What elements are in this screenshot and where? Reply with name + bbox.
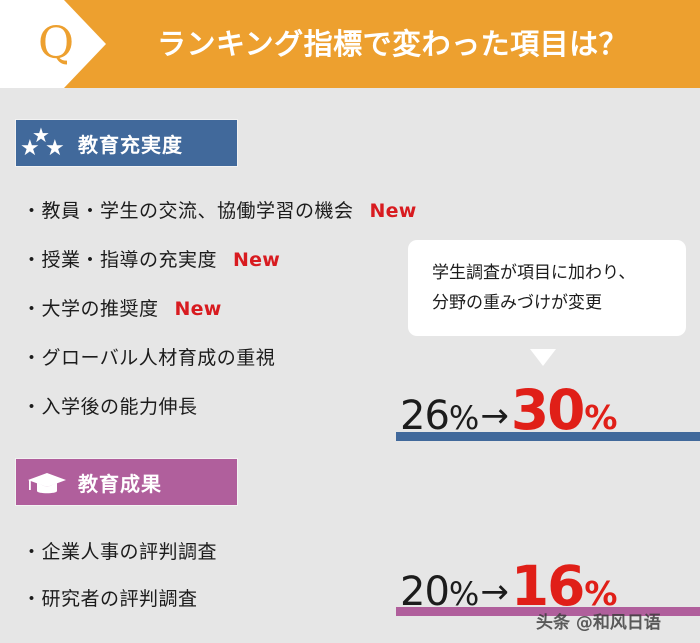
list-item-label: ・企業人事の評判調査 bbox=[22, 537, 217, 564]
section-banner-label: 教育成果 bbox=[78, 468, 162, 497]
graduation-cap-icon bbox=[16, 458, 78, 506]
list-item: ・教員・学生の交流、協働学習の機会 New bbox=[22, 196, 416, 223]
list-item: ・大学の推奨度 New bbox=[22, 294, 221, 321]
question-mark-badge-icon: Q bbox=[26, 14, 86, 74]
stat-underline-bar bbox=[396, 432, 700, 441]
header: Q ランキング指標で変わった項目は？ bbox=[0, 0, 700, 88]
list-item: ・研究者の評判調査 bbox=[22, 584, 214, 611]
list-item-label: ・グローバル人材育成の重視 bbox=[22, 343, 275, 370]
list-item: ・グローバル人材育成の重視 bbox=[22, 343, 291, 370]
graduation-cap-glyph bbox=[27, 472, 67, 496]
list-item: ・企業人事の評判調査 bbox=[22, 537, 233, 564]
list-item-label: ・入学後の能力伸長 bbox=[22, 392, 198, 419]
section-banner-label: 教育充実度 bbox=[78, 129, 183, 158]
new-badge: New bbox=[370, 200, 417, 222]
arrow-right-icon: → bbox=[480, 572, 509, 612]
callout-bubble: 学生調査が項目に加わり、 分野の重みづけが変更 bbox=[408, 240, 686, 336]
section-banner-education-outcome: 教育成果 bbox=[15, 458, 238, 506]
section-banner-education-enrichment: ★ ★ ★ 教育充実度 bbox=[15, 119, 238, 167]
list-item-label: ・研究者の評判調査 bbox=[22, 584, 198, 611]
star-icon: ★ bbox=[45, 138, 65, 160]
list-item: ・授業・指導の充実度 New bbox=[22, 245, 280, 272]
page-title: ランキング指標で変わった項目は？ bbox=[157, 0, 628, 88]
list-item-label: ・授業・指導の充実度 bbox=[22, 245, 217, 272]
callout-line-1: 学生調査が項目に加わり、 bbox=[408, 258, 686, 288]
arrow-right-icon: → bbox=[480, 396, 509, 436]
list-item-label: ・教員・学生の交流、協働学習の機会 bbox=[22, 196, 354, 223]
list-item: ・入学後の能力伸長 bbox=[22, 392, 214, 419]
star-icon: ★ bbox=[20, 138, 40, 160]
infographic-page: Q ランキング指標で変わった項目は？ ★ ★ ★ 教育充実度 ・教員・学生の交流… bbox=[0, 0, 700, 643]
callout-line-2: 分野の重みづけが変更 bbox=[408, 288, 686, 318]
callout-tail-icon bbox=[530, 349, 556, 366]
new-badge: New bbox=[233, 249, 280, 271]
watermark: 头条 @和风日语 bbox=[536, 608, 661, 633]
new-badge: New bbox=[175, 298, 222, 320]
three-stars-icon: ★ ★ ★ bbox=[16, 119, 78, 167]
list-item-label: ・大学の推奨度 bbox=[22, 294, 159, 321]
